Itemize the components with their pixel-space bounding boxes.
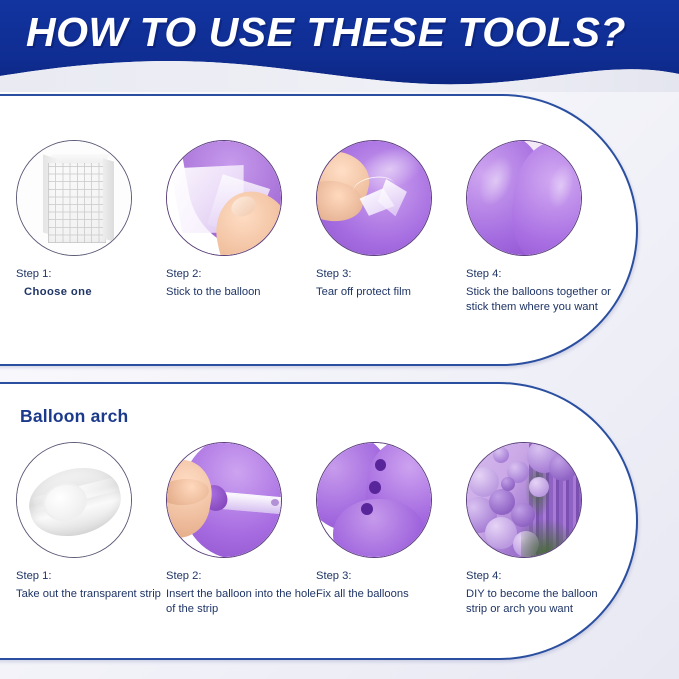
step-label: Step 4: [466,569,616,584]
step-item: Step 3: Tear off protect film [316,140,466,315]
transparent-tape-roll-photo [16,442,132,558]
step-caption: Step 3: Tear off protect film [316,267,466,300]
step-label: Step 3: [316,569,466,584]
step-label: Step 2: [166,267,316,282]
hand-sticking-film-to-balloon-photo [166,140,282,256]
step-text: Choose one [16,285,166,300]
step-text: Stick to the balloon [166,285,316,300]
step-list-panel-2: Step 1: Take out the transparent strip S… [16,442,616,617]
step-item: Step 2: Stick to the balloon [166,140,316,315]
finished-balloon-arch-photo [466,442,582,558]
step-caption: Step 4: Stick the balloons together or s… [466,267,616,315]
three-balloons-fixed-photo [316,442,432,558]
step-list-panel-1: Step 1: Choose one Step 2: Stick to the … [16,140,616,315]
inserting-balloon-into-strip-photo [166,442,282,558]
step-item: Step 4: Stick the balloons together or s… [466,140,616,315]
step-item: Step 4: DIY to become the balloon strip … [466,442,616,617]
glue-dot-sheet-photo [16,140,132,256]
panel-heading: Balloon arch [20,406,128,427]
step-label: Step 4: [466,267,616,282]
step-text: Take out the transparent strip [16,587,166,602]
step-text: Fix all the balloons [316,587,466,602]
step-caption: Step 1: Take out the transparent strip [16,569,166,602]
step-caption: Step 4: DIY to become the balloon strip … [466,569,616,617]
header-banner: HOW TO USE THESE TOOLS? [0,0,679,92]
step-caption: Step 2: Insert the balloon into the hole… [166,569,316,617]
step-caption: Step 1: Choose one [16,267,166,300]
step-label: Step 1: [16,267,166,282]
step-item: Step 1: Choose one [16,140,166,315]
step-label: Step 2: [166,569,316,584]
step-item: Step 1: Take out the transparent strip [16,442,166,617]
step-text: Insert the balloon into the hole of the … [166,587,316,617]
step-item: Step 2: Insert the balloon into the hole… [166,442,316,617]
step-caption: Step 2: Stick to the balloon [166,267,316,300]
peeling-protect-film-photo [316,140,432,256]
two-balloons-stuck-together-photo [466,140,582,256]
step-caption: Step 3: Fix all the balloons [316,569,466,602]
step-text: DIY to become the balloon strip or arch … [466,587,616,617]
page-title: HOW TO USE THESE TOOLS? [26,9,666,56]
step-text: Tear off protect film [316,285,466,300]
step-label: Step 1: [16,569,166,584]
step-item: Step 3: Fix all the balloons [316,442,466,617]
panel-basic-steps: Step 1: Choose one Step 2: Stick to the … [0,94,638,366]
step-label: Step 3: [316,267,466,282]
step-text: Stick the balloons together or stick the… [466,285,616,315]
panel-balloon-arch: Balloon arch Step 1: Take out the transp… [0,382,638,660]
